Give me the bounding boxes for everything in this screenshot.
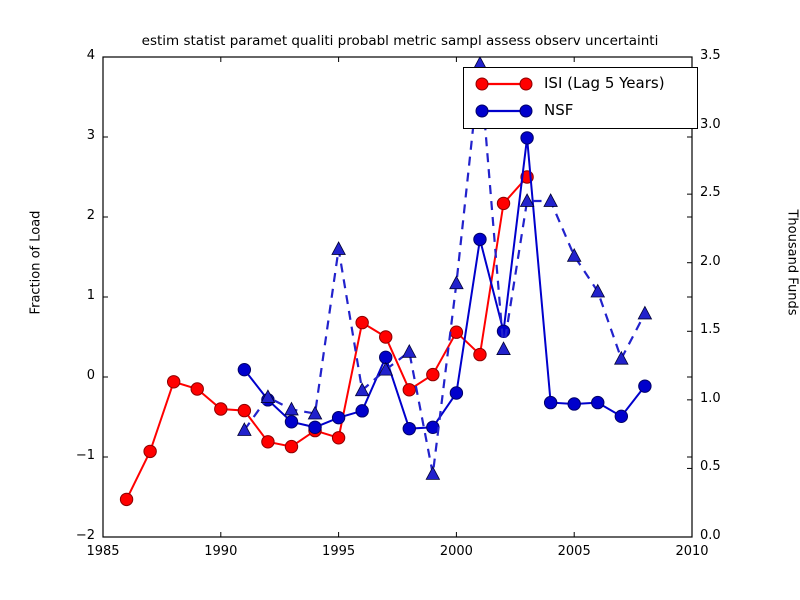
y-axis-label-right: Thousand Funds: [785, 163, 800, 363]
legend[interactable]: ISI (Lag 5 Years) NSF: [463, 67, 698, 129]
legend-label-isi: ISI (Lag 5 Years): [544, 74, 665, 92]
data-point: [615, 410, 627, 422]
data-point: [403, 384, 415, 396]
legend-swatch-isi: [472, 71, 538, 97]
data-point: [262, 436, 274, 448]
data-point: [639, 380, 651, 392]
figure: estim statist paramet qualiti probabl me…: [0, 0, 800, 600]
x-tick-label: 2010: [662, 544, 722, 559]
data-point: [191, 383, 203, 395]
y2-tick-label: 2.0: [700, 254, 744, 269]
chart-title: estim statist paramet qualiti probabl me…: [0, 33, 800, 49]
y-tick-label: −2: [55, 528, 95, 543]
data-point: [521, 132, 533, 144]
data-point: [356, 316, 368, 328]
data-point: [403, 422, 415, 434]
data-point: [238, 363, 250, 375]
y2-tick-label: 0.5: [700, 459, 744, 474]
data-point: [497, 197, 509, 209]
legend-item-isi[interactable]: ISI (Lag 5 Years): [464, 71, 699, 97]
x-tick-label: 2005: [544, 544, 604, 559]
data-point: [238, 404, 250, 416]
data-point: [592, 396, 604, 408]
y-tick-label: 2: [55, 208, 95, 223]
x-tick-label: 1990: [191, 544, 251, 559]
y2-tick-label: 1.0: [700, 391, 744, 406]
data-point: [380, 351, 392, 363]
data-point: [380, 331, 392, 343]
data-point: [144, 445, 156, 457]
y-tick-label: 1: [55, 288, 95, 303]
data-point: [450, 387, 462, 399]
x-tick-label: 2000: [426, 544, 486, 559]
data-point: [544, 396, 556, 408]
y-tick-label: 0: [55, 368, 95, 383]
data-point: [167, 376, 179, 388]
y-tick-label: −1: [55, 448, 95, 463]
data-point: [427, 368, 439, 380]
data-point: [450, 326, 462, 338]
y2-tick-label: 1.5: [700, 322, 744, 337]
y-tick-label: 4: [55, 48, 95, 63]
x-tick-label: 1995: [309, 544, 369, 559]
y-axis-label-left: Fraction of Load: [29, 163, 44, 363]
legend-item-nsf[interactable]: NSF: [464, 98, 699, 124]
data-point: [474, 233, 486, 245]
data-point: [332, 432, 344, 444]
y2-tick-label: 2.5: [700, 185, 744, 200]
y-tick-label: 3: [55, 128, 95, 143]
data-point: [474, 348, 486, 360]
data-point: [332, 411, 344, 423]
legend-label-nsf: NSF: [544, 101, 573, 119]
y2-tick-label: 3.5: [700, 48, 744, 63]
legend-swatch-nsf: [472, 98, 538, 124]
data-point: [497, 325, 509, 337]
x-tick-label: 1985: [73, 544, 133, 559]
data-point: [120, 493, 132, 505]
data-point: [285, 440, 297, 452]
y2-tick-label: 3.0: [700, 117, 744, 132]
data-point: [285, 416, 297, 428]
data-point: [568, 398, 580, 410]
data-point: [309, 421, 321, 433]
y2-tick-label: 0.0: [700, 528, 744, 543]
data-point: [356, 405, 368, 417]
data-point: [215, 403, 227, 415]
